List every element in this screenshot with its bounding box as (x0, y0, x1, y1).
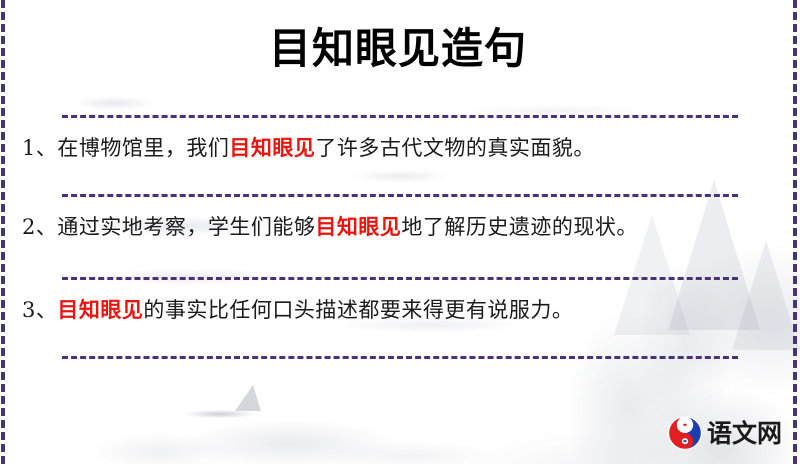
divider-4 (62, 356, 738, 359)
site-logo[interactable]: 语文网 (668, 416, 782, 450)
sentence-2-keyword: 目知眼见 (315, 214, 401, 239)
sentence-3-after: 的事实比任何口头描述都要来得更有说服力。 (143, 298, 573, 322)
sentence-3: 3、目知眼见的事实比任何口头描述都要来得更有说服力。 (18, 280, 778, 336)
content-area: 目知眼见造句 1、在博物馆里，我们目知眼见了许多古代文物的真实面貌。 2、通过实… (0, 0, 800, 464)
sentence-1-keyword: 目知眼见 (229, 135, 315, 160)
sentence-1: 1、在博物馆里，我们目知眼见了许多古代文物的真实面貌。 (18, 118, 778, 174)
logo-text: 语文网 (707, 421, 782, 446)
yinyang-circle-icon (668, 416, 702, 450)
sentence-1-after: 了许多古代文物的真实面貌。 (315, 136, 595, 160)
page-title: 目知眼见造句 (18, 0, 778, 90)
sentence-1-index: 1、 (22, 136, 57, 160)
page-root: 目知眼见造句 1、在博物馆里，我们目知眼见了许多古代文物的真实面貌。 2、通过实… (0, 0, 800, 464)
sentence-2-before: 通过实地考察，学生们能够 (57, 215, 315, 239)
sentence-2: 2、通过实地考察，学生们能够目知眼见地了解历史遗迹的现状。 (18, 197, 778, 253)
sentence-3-keyword: 目知眼见 (57, 297, 143, 322)
sentence-1-before: 在博物馆里，我们 (57, 136, 229, 160)
sentence-2-after: 地了解历史遗迹的现状。 (401, 215, 638, 239)
sentence-3-index: 3、 (22, 298, 57, 322)
sentence-2-index: 2、 (22, 215, 57, 239)
